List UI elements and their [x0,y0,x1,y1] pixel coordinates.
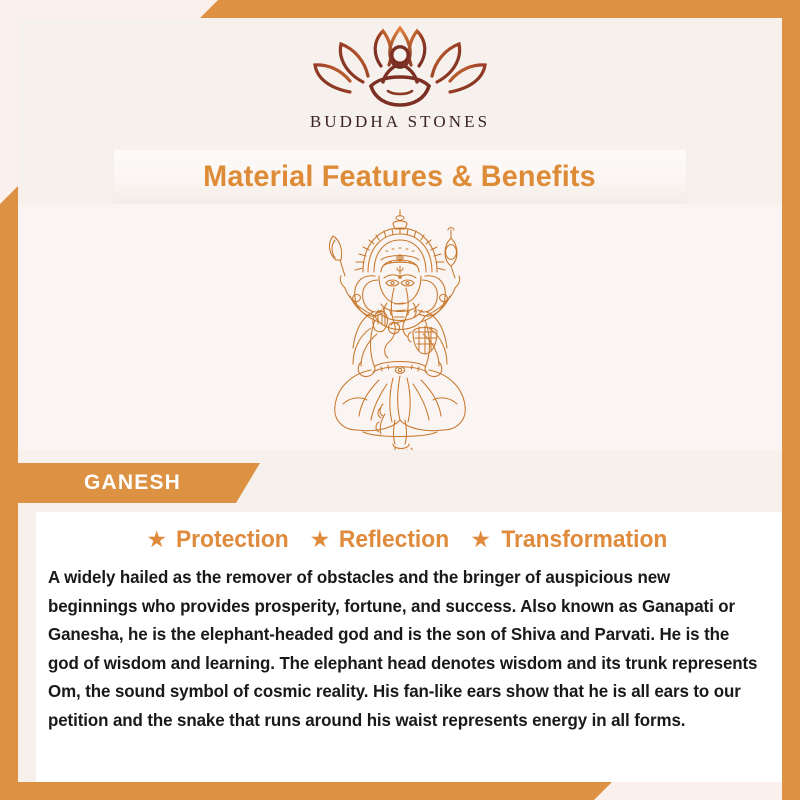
brand-name: BUDDHA STONES [310,112,490,132]
feature-label: Transformation [501,526,667,554]
description-text: A widely hailed as the remover of obstac… [48,563,759,734]
ganesha-line-art-illustration-icon [295,204,505,450]
decor-bar-top [200,0,800,18]
decor-bar-right [782,0,800,800]
feature-list: ★ Protection ★ Reflection ★ Transformati… [36,512,782,554]
description-panel: ★ Protection ★ Reflection ★ Transformati… [36,512,782,782]
page-title: Material Features & Benefits [204,160,597,194]
feature-item-reflection: ★ Reflection [310,526,453,554]
star-icon: ★ [470,528,491,551]
star-icon: ★ [146,528,167,551]
hero-illustration [18,204,782,450]
feature-label: Protection [176,526,289,554]
content-card: BUDDHA STONES Material Features & Benefi… [18,18,782,782]
decor-bar-left [0,186,18,800]
ribbon-label: GANESH [84,471,181,495]
poster-root: BUDDHA STONES Material Features & Benefi… [0,0,800,800]
feature-item-protection: ★ Protection [146,526,291,554]
title-banner: Material Features & Benefits [114,150,686,204]
star-icon: ★ [310,528,331,551]
decor-bar-bottom [0,782,612,800]
brand-block: BUDDHA STONES [18,18,782,146]
lotus-meditating-figure-icon [305,24,495,110]
feature-item-transformation: ★ Transformation [470,526,671,554]
feature-label: Reflection [339,526,449,554]
section-ribbon-ganesh: GANESH [18,463,260,503]
